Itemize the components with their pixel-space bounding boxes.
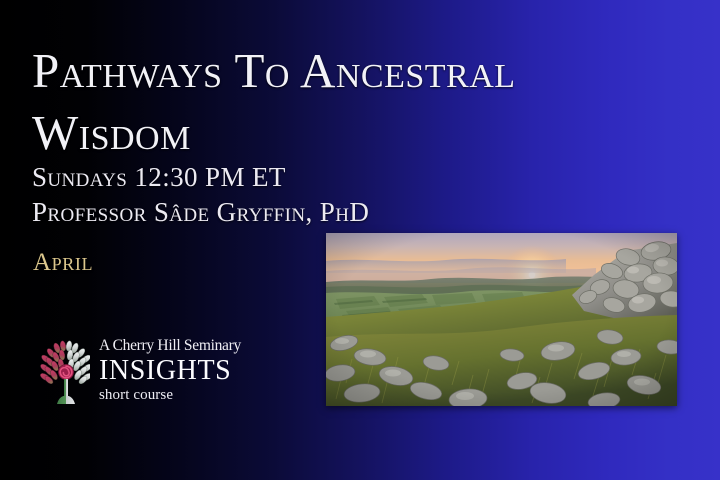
logo-text-block: A Cherry Hill Seminary INSIGHTS short co… [99,336,241,405]
organization-name: A Cherry Hill Seminary [99,336,241,355]
course-type-label: short course [99,386,241,405]
brand-name: INSIGHTS [99,355,241,386]
landscape-photo-graphic [326,233,677,406]
title-line-2: Wisdom [32,102,672,164]
logo-block: A Cherry Hill Seminary INSIGHTS short co… [38,334,241,406]
cherry-hill-tree-logo-icon [38,334,90,406]
subtitle-block: Sundays 12:30 PM ET Professor Sâde Gryff… [32,160,369,230]
page-title: Pathways To Ancestral Wisdom [32,40,672,164]
presenter-text: Professor Sâde Gryffin, PhD [32,195,369,230]
landscape-photo [326,233,677,406]
presentation-slide: Pathways To Ancestral Wisdom Sundays 12:… [0,0,720,480]
tree-logo-graphic [38,334,90,406]
month-label: April [33,248,93,278]
schedule-text: Sundays 12:30 PM ET [32,160,369,195]
title-line-1: Pathways To Ancestral [32,40,672,102]
